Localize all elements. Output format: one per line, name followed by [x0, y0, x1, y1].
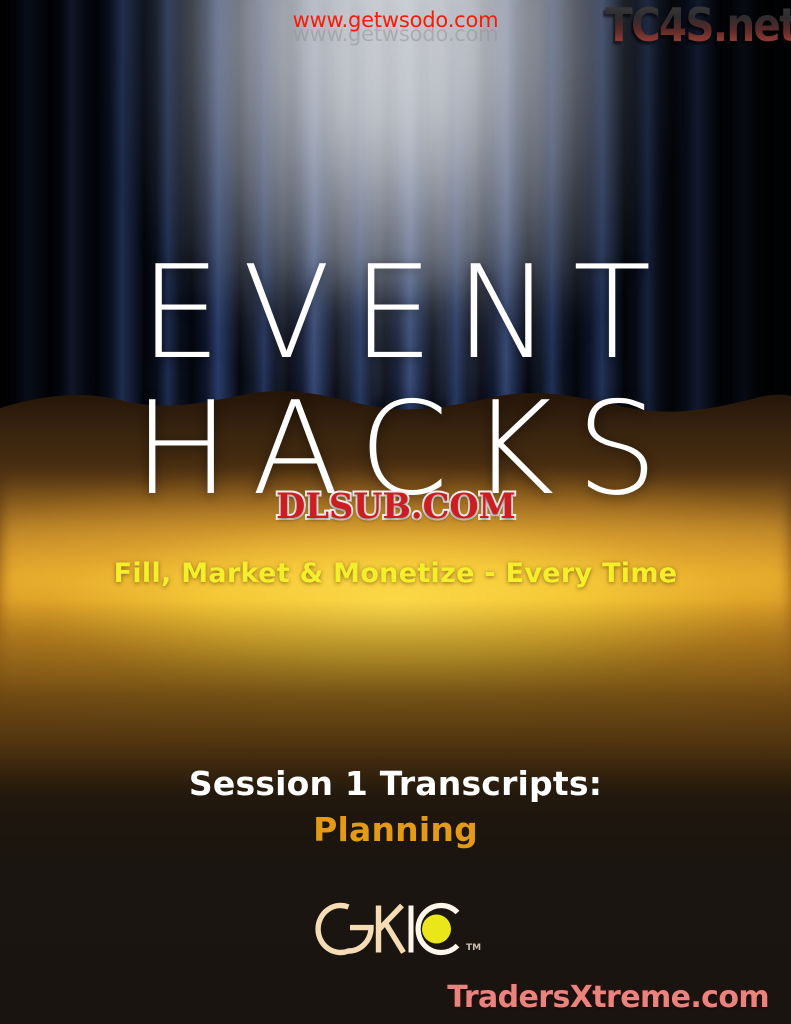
svg-text:TM: TM	[466, 943, 481, 953]
gkic-logo: TM	[310, 898, 482, 960]
curtain-vignette	[0, 0, 791, 420]
cover-page: EVENT HACKS Fill, Market & Monetize - Ev…	[0, 0, 791, 1024]
watermark-tc4s: TC4S.net	[605, 2, 791, 48]
watermark-dlsub: DLSUB.COM	[250, 486, 542, 527]
watermark-tradersxtreme: TradersXtreme.com	[447, 980, 769, 1015]
